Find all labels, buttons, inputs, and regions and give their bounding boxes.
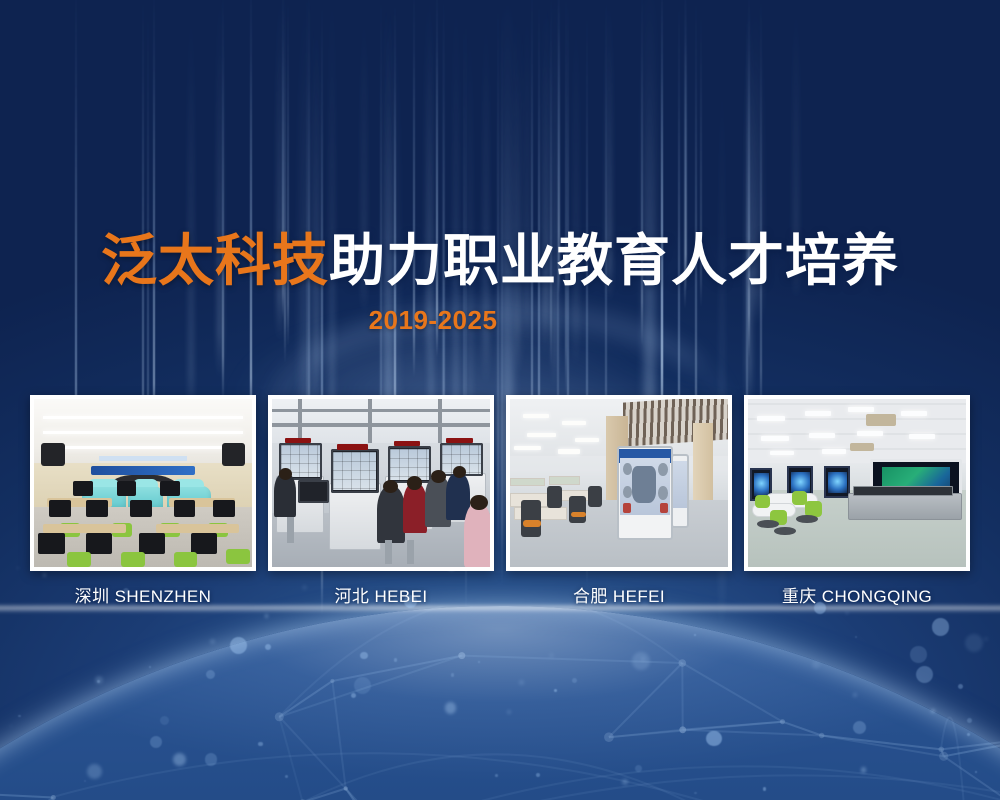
gallery-item[interactable]	[744, 395, 970, 571]
photo-gallery	[30, 395, 970, 571]
caption-shenzhen: 深圳 SHENZHEN	[30, 582, 256, 607]
caption-hebei: 河北 HEBEI	[268, 582, 494, 607]
photo-chongqing	[748, 399, 966, 567]
photo-captions: 深圳 SHENZHEN 河北 HEBEI 合肥 HEFEI 重庆 CHONGQI…	[30, 582, 970, 607]
gallery-item[interactable]	[30, 395, 256, 571]
bokeh-dots-decoration	[0, 540, 1000, 800]
page-title: 泛太科技助力职业教育人才培养	[0, 232, 1000, 291]
brand-name: 泛太科技	[101, 229, 329, 292]
photo-shenzhen	[34, 399, 252, 567]
gallery-item[interactable]	[268, 395, 494, 571]
year-range: 2019-2025	[0, 305, 1000, 336]
photo-hefei	[510, 399, 728, 567]
photo-hebei	[272, 399, 490, 567]
title-rest: 助力职业教育人才培养	[329, 229, 899, 292]
gallery-item[interactable]	[506, 395, 732, 571]
caption-chongqing: 重庆 CHONGQING	[744, 582, 970, 607]
promo-banner: 泛太科技助力职业教育人才培养 2019-2025	[0, 0, 1000, 800]
caption-hefei: 合肥 HEFEI	[506, 582, 732, 607]
